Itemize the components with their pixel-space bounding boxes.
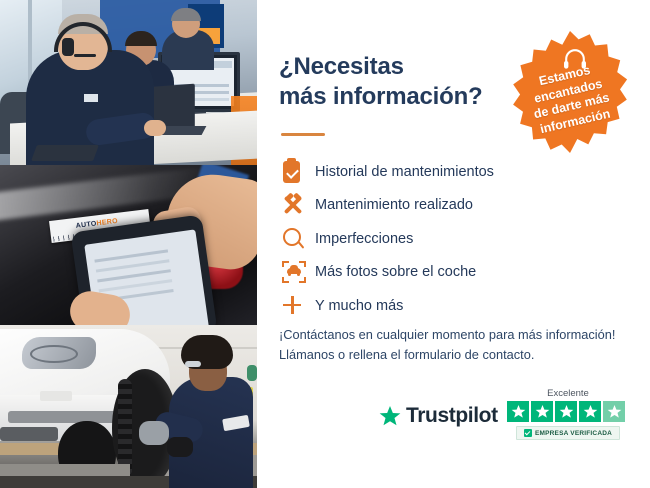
- verified-company-badge: EMPRESA VERIFICADA: [516, 426, 620, 440]
- trustpilot-star-icon: [379, 405, 401, 427]
- desk-tablet: [31, 145, 99, 161]
- content-panel: ¿Necesitas más información? Estamos enca…: [257, 0, 650, 488]
- star-rating[interactable]: [507, 401, 629, 422]
- trustpilot-rating[interactable]: Excelente EMPRESA VERIFICADA: [507, 388, 629, 440]
- feature-list: Historial de mantenimientos Mantenimient…: [279, 155, 639, 323]
- feature-item-maintenance-done: Mantenimiento realizado: [279, 189, 639, 223]
- help-badge: Estamos encantados de darte más informac…: [506, 28, 634, 156]
- clipboard-check-icon: [279, 159, 315, 185]
- car-grille: [8, 411, 118, 423]
- headset-earpad: [62, 38, 74, 56]
- trustpilot-wordmark: Trustpilot: [406, 404, 498, 428]
- car-lower-grille: [0, 427, 58, 441]
- feature-label: Más fotos sobre el coche: [315, 264, 476, 280]
- trustpilot-logo[interactable]: Trustpilot: [379, 404, 498, 428]
- green-hose: [247, 365, 257, 381]
- call-center-agents-photo: [0, 0, 257, 165]
- car-headlamp: [22, 337, 96, 369]
- car-inspection-ruler-photo: AUTOHERO: [0, 165, 257, 325]
- license-plate-area: [40, 391, 72, 401]
- feature-item-much-more: Y mucho más: [279, 289, 639, 323]
- mechanic-glove-right: [167, 437, 193, 457]
- star-tile-5-partial: [603, 401, 625, 422]
- front-agent-name-tag: [84, 94, 98, 102]
- feature-label: Mantenimiento realizado: [315, 197, 473, 213]
- feature-label: Y mucho más: [315, 298, 403, 314]
- contact-copy: ¡Contáctanos en cualquier momento para m…: [279, 325, 639, 365]
- mechanic-wheel-photo: [0, 325, 257, 488]
- contact-line-2: Llámanos o rellena el formulario de cont…: [279, 345, 639, 365]
- promo-card: AUTOHERO: [0, 0, 650, 488]
- photo-column: AUTOHERO: [0, 0, 257, 488]
- crossed-tools-icon: [279, 192, 315, 218]
- feature-item-imperfections: Imperfecciones: [279, 222, 639, 256]
- page-title: ¿Necesitas más información?: [279, 52, 529, 112]
- verified-label: EMPRESA VERIFICADA: [535, 430, 612, 437]
- mechanic-glove-left: [139, 421, 169, 445]
- contact-line-1: ¡Contáctanos en cualquier momento para m…: [279, 325, 639, 345]
- trustpilot-widget[interactable]: Trustpilot Excelente EMPRESA VERIFICADA: [379, 388, 629, 450]
- front-agent-hand: [144, 120, 166, 136]
- star-tile-1: [507, 401, 529, 422]
- feature-label: Imperfecciones: [315, 231, 413, 247]
- headset-mic: [74, 54, 96, 57]
- page-title-line-2: más información?: [279, 82, 529, 112]
- feature-item-maintenance-history: Historial de mantenimientos: [279, 155, 639, 189]
- page-title-line-1: ¿Necesitas: [279, 52, 529, 82]
- star-tile-4: [579, 401, 601, 422]
- magnifier-icon: [279, 226, 315, 252]
- verified-check-icon: [524, 429, 532, 437]
- star-tile-3: [555, 401, 577, 422]
- safety-glasses: [185, 361, 201, 367]
- rating-label: Excelente: [507, 388, 629, 399]
- feature-label: Historial de mantenimientos: [315, 164, 494, 180]
- star-tile-2: [531, 401, 553, 422]
- plus-icon: [279, 293, 315, 319]
- car-photo-frame-icon: [279, 259, 315, 285]
- title-divider: [281, 133, 325, 136]
- feature-item-more-photos: Más fotos sobre el coche: [279, 256, 639, 290]
